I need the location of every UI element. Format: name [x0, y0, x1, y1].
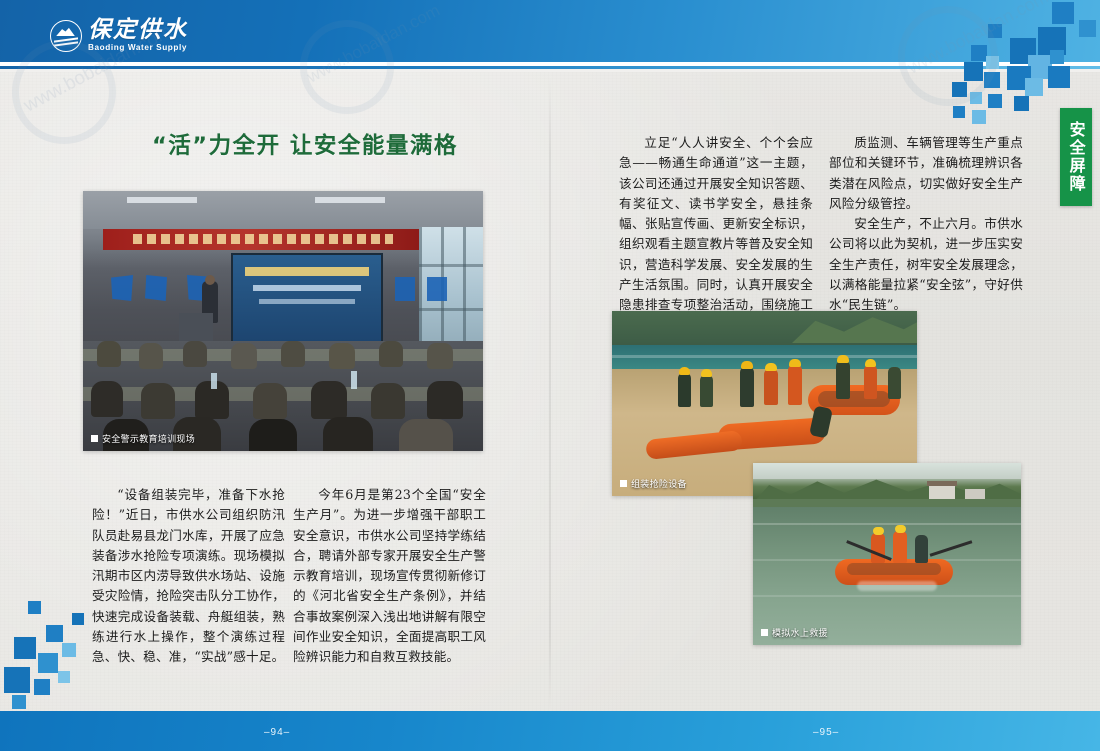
page-number-right: –95– [813, 727, 839, 738]
photo-attendee [329, 343, 355, 369]
photo-worker [678, 373, 691, 407]
photo-wall-text [145, 275, 167, 301]
photo-attendee [281, 341, 305, 367]
article-title: “活”力全开 让安全能量满格 [152, 128, 572, 160]
photo-helmet [873, 527, 884, 535]
paragraph: 今年6月是第23个全国“安全生产月”。为进一步增强干部职工安全意识，市供水公司坚… [293, 485, 486, 668]
paragraph: 质监测、车辆管理等生产重点部位和关键环节，准确梳理辨识各类潜在风险点，切实做好安… [829, 133, 1023, 214]
photo-water-bottle [211, 373, 217, 389]
photo-worker [836, 361, 850, 399]
deco-square [72, 613, 84, 625]
photo-wall-text [111, 275, 133, 301]
caption-bullet-icon [91, 435, 98, 442]
photo-crew [915, 535, 928, 563]
brand-logo: 保定供水 Baoding Water Supply [50, 18, 188, 52]
decorative-squares-top-right [920, 0, 1100, 120]
photo-projection-screen [231, 253, 383, 343]
photo-attendee [139, 343, 163, 369]
deco-square [1014, 96, 1029, 111]
deco-square [4, 667, 30, 693]
brand-name-en: Baoding Water Supply [88, 44, 188, 52]
photo-wall-text [427, 277, 447, 301]
photo-attendee [183, 341, 207, 367]
photo-attendee [427, 381, 463, 419]
page-gutter [549, 76, 551, 711]
photo-worker [888, 367, 901, 399]
photo-attendee [399, 419, 453, 451]
photo-attendee [379, 341, 403, 367]
photo-helmet [895, 525, 906, 533]
photo-worker [700, 375, 713, 407]
photo-water-bottle [351, 371, 357, 389]
section-tab-safety-barrier[interactable]: 安全屏障 [1060, 108, 1092, 206]
photo-caption: 模拟水上救援 [761, 626, 828, 639]
photo-helmet [765, 363, 777, 371]
photo-worker-lifejacket [788, 365, 802, 405]
deco-square [14, 637, 36, 659]
photo-presenter-head [205, 275, 215, 285]
deco-square [971, 45, 987, 61]
deco-square [1052, 2, 1074, 24]
photo-attendee [253, 383, 287, 419]
deco-square [1079, 20, 1096, 37]
caption-bullet-icon [620, 480, 627, 487]
text-column-left-1: “设备组装完毕，准备下水抢险！”近日，市供水公司组织防汛队员赴易县龙门水库，开展… [92, 485, 285, 668]
photo-caption-text: 安全警示教育培训现场 [102, 432, 195, 445]
page-number-left: –94– [264, 727, 290, 738]
brand-name-cn: 保定供水 [88, 18, 188, 41]
photo-worker [740, 367, 754, 407]
deco-square [970, 92, 982, 104]
photo-wall-text [395, 277, 415, 301]
deco-square [953, 106, 965, 118]
photo-ceiling-light [315, 197, 385, 203]
deco-square [1050, 50, 1064, 64]
deco-square [1025, 78, 1043, 96]
text-column-right-2: 质监测、车辆管理等生产重点部位和关键环节，准确梳理辨识各类潜在风险点，切实做好安… [829, 133, 1023, 316]
photo-helmet [865, 359, 876, 367]
photo-attendee [249, 419, 297, 451]
photo-building [929, 485, 955, 499]
paragraph: 立足“人人讲安全、个个会应急——畅通生命通道”这一主题，该公司还通过开展安全知识… [619, 133, 813, 336]
photo-attendee [97, 341, 121, 367]
text-column-right-1: 立足“人人讲安全、个个会应急——畅通生命通道”这一主题，该公司还通过开展安全知识… [619, 133, 813, 336]
photo-crew-lifejacket [871, 533, 885, 563]
deco-square [984, 72, 1000, 88]
deco-square [62, 643, 76, 657]
photo-ceiling-light [127, 197, 197, 203]
photo-water-rescue-drill: 模拟水上救援 [753, 463, 1021, 645]
deco-square [1048, 66, 1070, 88]
section-tab-label: 安全屏障 [1067, 121, 1084, 193]
caption-bullet-icon [761, 629, 768, 636]
photo-attendee [427, 343, 453, 369]
text-column-left-2: 今年6月是第23个全国“安全生产月”。为进一步增强干部职工安全意识，市供水公司坚… [293, 485, 486, 668]
deco-square [34, 679, 50, 695]
photo-caption: 安全警示教育培训现场 [91, 432, 195, 445]
deco-square [38, 653, 58, 673]
photo-sky [753, 463, 1021, 479]
mountain-water-circle-logo-icon [50, 20, 82, 52]
photo-wake [857, 581, 937, 591]
photo-helmet [701, 369, 712, 377]
photo-training-hall: 安全警示教育培训现场 [83, 191, 483, 451]
paragraph: “设备组装完毕，准备下水抢险！”近日，市供水公司组织防汛队员赴易县龙门水库，开展… [92, 485, 285, 668]
deco-square [952, 82, 967, 97]
photo-helmet [789, 359, 801, 367]
photo-attendee [91, 381, 123, 417]
photo-far-shore [753, 499, 1021, 507]
photo-attendee [371, 383, 405, 419]
paragraph: 安全生产，不止六月。市供水公司将以此为契机，进一步压实安全生产责任，树牢安全发展… [829, 214, 1023, 315]
deco-square [964, 62, 983, 81]
brand-text: 保定供水 Baoding Water Supply [88, 18, 188, 52]
photo-worker-lifejacket [864, 365, 877, 399]
deco-square [12, 695, 26, 709]
deco-square [58, 671, 70, 683]
magazine-spread: 保定供水 Baoding Water Supply [0, 0, 1100, 751]
deco-square [986, 56, 999, 69]
photo-caption: 组装抢险设备 [620, 477, 687, 490]
photo-worker-lifejacket [764, 369, 778, 405]
photo-helmet [679, 367, 690, 375]
photo-helmet [837, 355, 849, 363]
photo-attendee [141, 383, 175, 419]
deco-square [988, 94, 1002, 108]
photo-banner [103, 229, 423, 250]
deco-square [972, 110, 986, 124]
photo-attendee [323, 417, 373, 451]
deco-square [988, 24, 1002, 38]
photo-crew-lifejacket [893, 531, 907, 563]
page-footer-bar [0, 711, 1100, 751]
photo-helmet [741, 361, 753, 369]
deco-square [46, 625, 63, 642]
photo-attendee [311, 381, 347, 419]
deco-square [28, 601, 41, 614]
photo-attendee [231, 343, 257, 369]
photo-caption-text: 模拟水上救援 [772, 626, 828, 639]
photo-caption-text: 组装抢险设备 [631, 477, 687, 490]
